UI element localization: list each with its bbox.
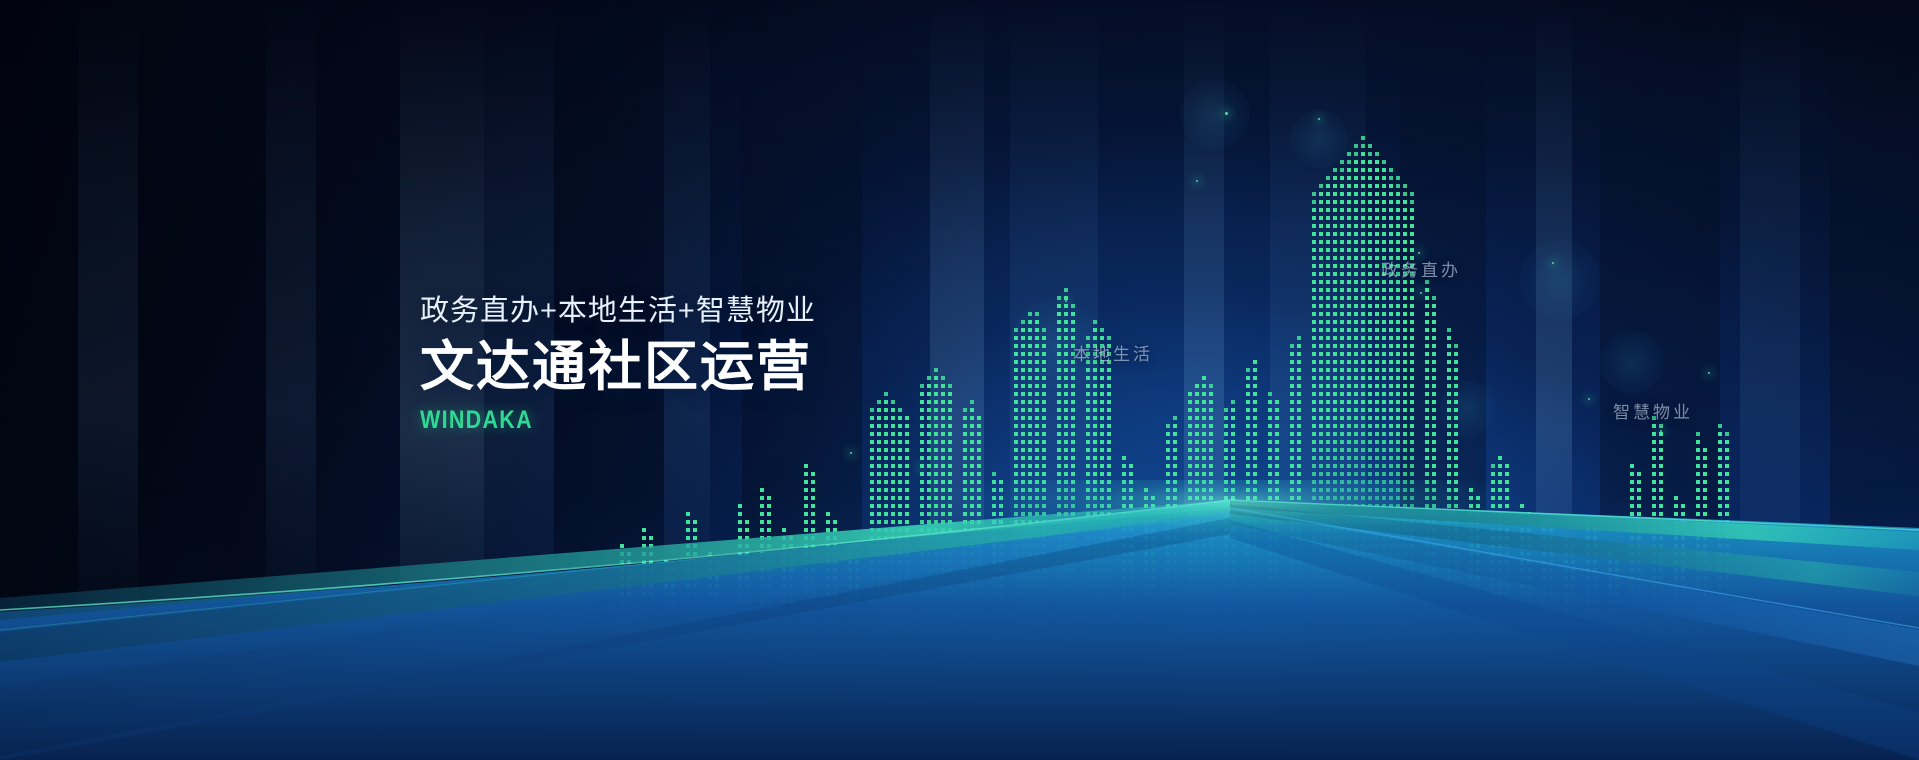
brand-wordmark: WINDAKA: [420, 406, 760, 434]
hero-banner: 政务直办 本地生活 智慧物业 政务直办+本地生活+智慧物业 文达通社区运营 WI…: [0, 0, 1919, 760]
category-label-bendi: 本地生活: [1073, 340, 1153, 365]
category-label-zhihui: 智慧物业: [1613, 398, 1693, 423]
ground-canvas: [0, 480, 1919, 760]
banner-title: 文达通社区运营: [420, 336, 816, 398]
headline-block: 政务直办+本地生活+智慧物业 文达通社区运营 WINDAKA: [420, 292, 816, 434]
perspective-ground: [0, 480, 1919, 760]
category-label-zhengwu: 政务直办: [1381, 256, 1461, 281]
banner-subtitle: 政务直办+本地生活+智慧物业: [420, 292, 816, 330]
